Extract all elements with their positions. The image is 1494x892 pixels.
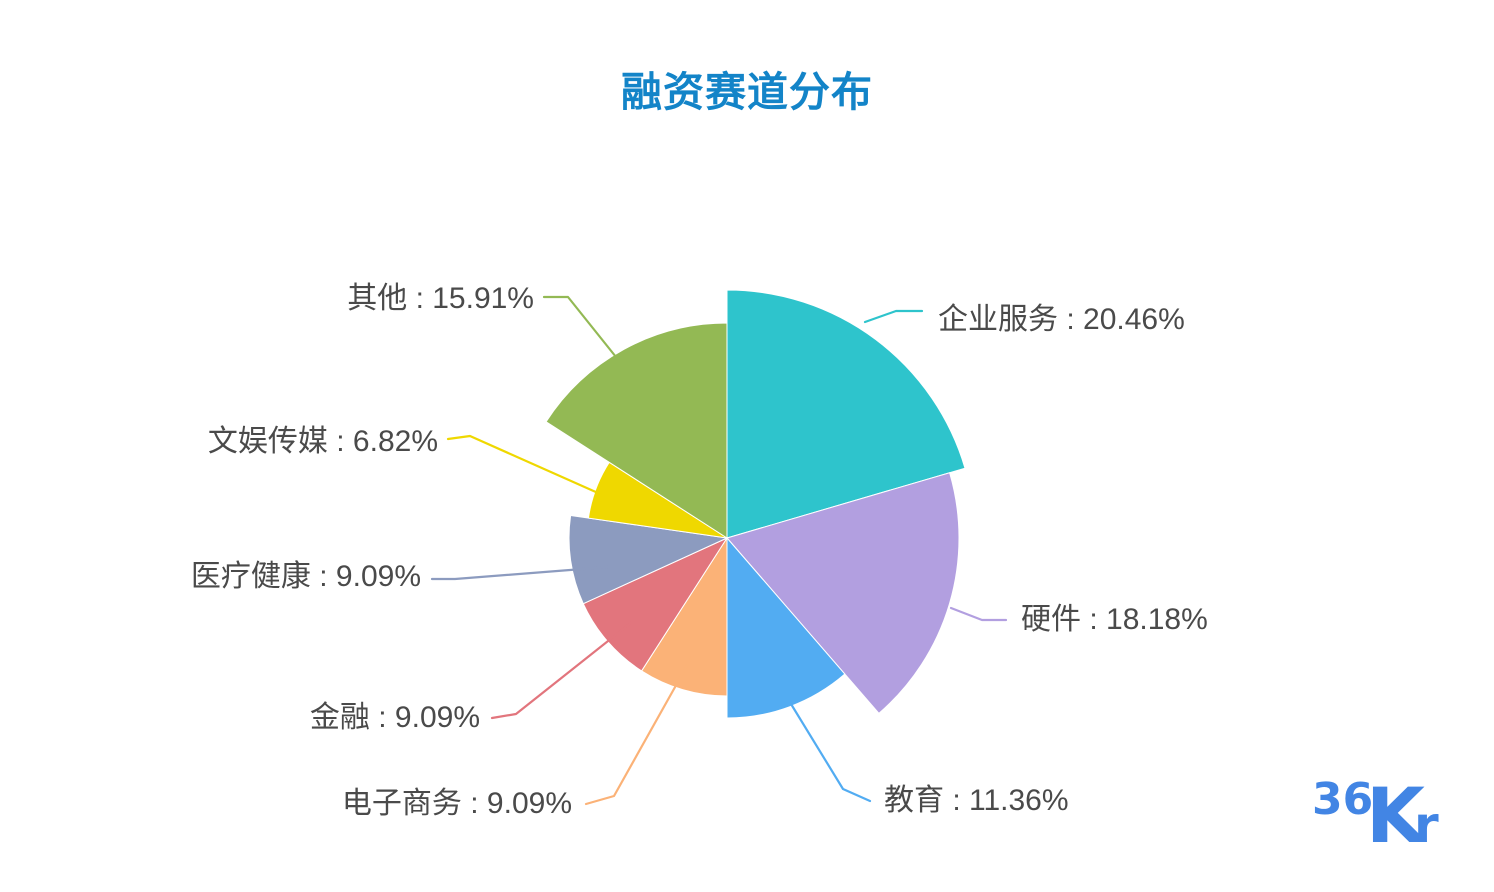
pie-slice-label: 电子商务 : 9.09% <box>342 787 572 820</box>
pie-slice-label: 教育 : 11.36% <box>884 784 1069 817</box>
pie-slice-label: 文娱传媒 : 6.82% <box>208 425 438 458</box>
logo-digits: 36 <box>1312 774 1373 825</box>
label-leader-line <box>544 297 620 362</box>
pie-slice-label: 其他 : 15.91% <box>347 282 534 315</box>
pie-slice-label: 金融 : 9.09% <box>310 701 480 734</box>
pie-slices <box>546 290 965 718</box>
logo-letter-r: r <box>1414 796 1439 854</box>
pie-slice-label: 企业服务 : 20.46% <box>938 303 1185 336</box>
pie-slice-label: 医疗健康 : 9.09% <box>191 560 421 593</box>
label-leader-line <box>865 311 922 322</box>
pie-chart: 企业服务 : 20.46%硬件 : 18.18%教育 : 11.36%电子商务 … <box>0 0 1494 892</box>
chart-canvas: 融资赛道分布 企业服务 : 20.46%硬件 : 18.18%教育 : 11.3… <box>0 0 1494 892</box>
pie-slice-label: 硬件 : 18.18% <box>1021 603 1208 636</box>
brand-logo-36kr: 36 K r <box>1308 770 1458 866</box>
label-leader-line <box>951 608 1006 620</box>
